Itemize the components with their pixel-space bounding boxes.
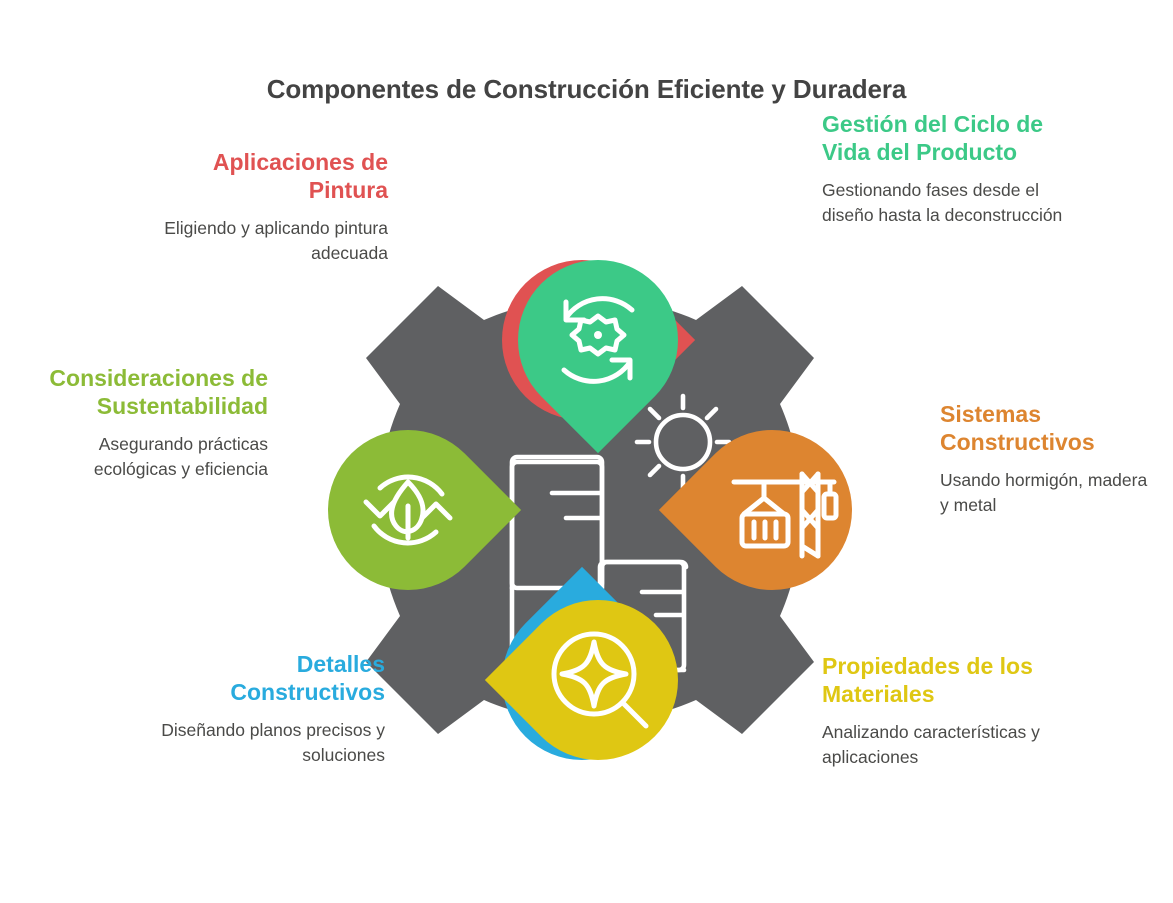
label-paint: Aplicaciones de Pintura Eligiendo y apli… xyxy=(138,148,388,266)
label-sustainability-heading: Consideraciones de Sustentabilidad xyxy=(18,364,268,420)
label-materials: Propiedades de los Materiales Analizando… xyxy=(822,652,1062,770)
label-materials-body: Analizando características y aplicacione… xyxy=(822,720,1062,770)
label-paint-heading: Aplicaciones de Pintura xyxy=(138,148,388,204)
label-lifecycle-body: Gestionando fases desde el diseño hasta … xyxy=(822,178,1070,228)
label-lifecycle-heading: Gestión del Ciclo de Vida del Producto xyxy=(822,110,1070,166)
label-details: Detalles Constructivos Diseñando planos … xyxy=(140,650,385,768)
label-systems: Sistemas Constructivos Usando hormigón, … xyxy=(940,400,1160,518)
label-paint-body: Eligiendo y aplicando pintura adecuada xyxy=(138,216,388,266)
label-sustainability: Consideraciones de Sustentabilidad Asegu… xyxy=(18,364,268,482)
label-systems-heading: Sistemas Constructivos xyxy=(940,400,1160,456)
infographic-canvas: Componentes de Construcción Eficiente y … xyxy=(0,0,1173,903)
label-lifecycle: Gestión del Ciclo de Vida del Producto G… xyxy=(822,110,1070,228)
label-details-body: Diseñando planos precisos y soluciones xyxy=(140,718,385,768)
page-title: Componentes de Construcción Eficiente y … xyxy=(0,74,1173,105)
label-systems-body: Usando hormigón, madera y metal xyxy=(940,468,1160,518)
label-details-heading: Detalles Constructivos xyxy=(140,650,385,706)
label-sustainability-body: Asegurando prácticas ecológicas y eficie… xyxy=(18,432,268,482)
label-materials-heading: Propiedades de los Materiales xyxy=(822,652,1062,708)
